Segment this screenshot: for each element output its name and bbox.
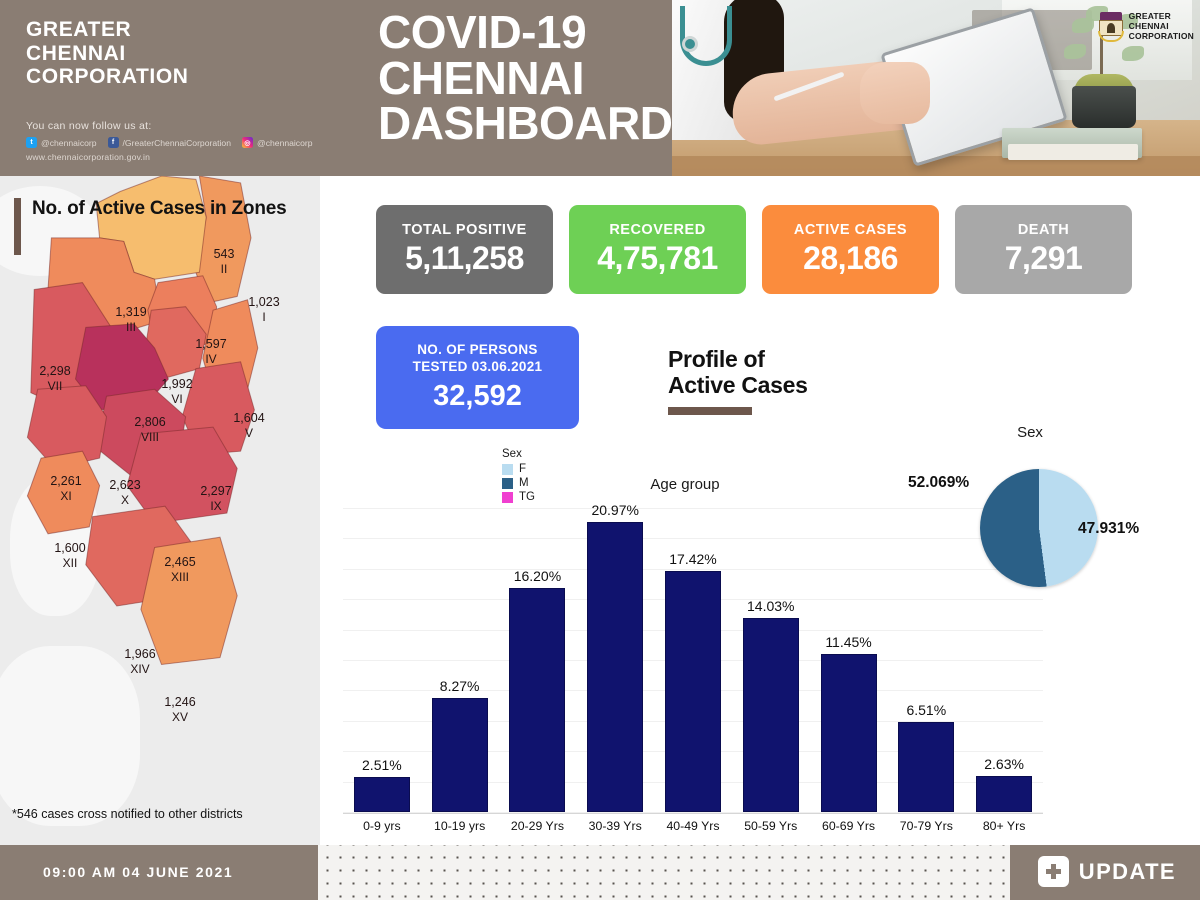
bar[interactable] — [665, 571, 721, 812]
x-tick-label: 50-59 Yrs — [732, 819, 810, 833]
bar-column[interactable]: 17.42% — [665, 508, 721, 812]
sex-legend: Sex FMTG — [502, 448, 535, 505]
zone-roman: III — [91, 320, 171, 335]
profile-title: Profile of Active Cases — [668, 346, 808, 398]
gcc-logo: GREATER CHENNAI CORPORATION — [1098, 12, 1194, 42]
legend-swatch — [502, 464, 513, 475]
social-follow-block: You can now follow us at: t @chennaicorp… — [26, 120, 320, 162]
stat-card-total-positive: TOTAL POSITIVE5,11,258 — [376, 205, 553, 294]
map-zone-label-VII: 2,298VII — [15, 363, 95, 394]
map-zone-label-XIII: 2,465XIII — [140, 554, 220, 585]
facebook-handle[interactable]: /GreaterChennaiCorporation — [123, 138, 231, 148]
x-tick-label: 10-19 yrs — [421, 819, 499, 833]
zone-roman: I — [224, 310, 304, 325]
dashboard-header: GREATER CHENNAI CORPORATION You can now … — [0, 0, 1200, 176]
bar[interactable] — [354, 777, 410, 812]
stat-card-death: DEATH7,291 — [955, 205, 1132, 294]
main-content: TOTAL POSITIVE5,11,258RECOVERED4,75,781A… — [320, 176, 1200, 845]
website-url[interactable]: www.chennaicorporation.gov.in — [26, 152, 320, 162]
pie-label-male: 52.069% — [908, 474, 969, 492]
zone-value: 2,261 — [26, 473, 106, 489]
bar-value-label: 20.97% — [587, 502, 643, 518]
zone-roman: VII — [15, 379, 95, 394]
title-line2: CHENNAI — [378, 56, 678, 102]
bar[interactable] — [821, 654, 877, 812]
profile-accent-rule — [668, 407, 752, 415]
instagram-icon[interactable]: ◎ — [242, 137, 253, 148]
zone-value: 1,597 — [171, 336, 251, 352]
tested-value: 32,592 — [433, 380, 522, 413]
photo-leaf — [1122, 46, 1144, 61]
zone-roman: XIII — [140, 570, 220, 585]
map-zone-label-XII: 1,600XII — [30, 540, 110, 571]
map-zone-label-IX: 2,297IX — [176, 483, 256, 514]
page-title: COVID-19 CHENNAI DASHBOARD — [378, 10, 678, 147]
medical-plus-icon — [1038, 856, 1069, 887]
stat-card-label: TOTAL POSITIVE — [402, 222, 527, 238]
legend-swatch — [502, 478, 513, 489]
org-name: GREATER CHENNAI CORPORATION — [26, 18, 366, 89]
pie-label-female: 47.931% — [1078, 520, 1139, 538]
map-zone-label-VIII: 2,806VIII — [110, 414, 190, 445]
zone-value: 2,297 — [176, 483, 256, 499]
stat-card-value: 5,11,258 — [405, 240, 524, 277]
legend-rows: FMTG — [502, 463, 535, 503]
zone-value: 1,966 — [100, 646, 180, 662]
zone-map-panel: No. of Active Cases in Zones 1,023I543II… — [0, 176, 320, 845]
bar[interactable] — [743, 618, 799, 812]
bar-value-label: 11.45% — [821, 634, 877, 650]
bar[interactable] — [898, 722, 954, 812]
zone-value: 1,992 — [137, 376, 217, 392]
map-title-group: No. of Active Cases in Zones — [14, 198, 286, 255]
zone-value: 1,600 — [30, 540, 110, 556]
map-zone-label-VI: 1,992VI — [137, 376, 217, 407]
map-zone-label-XV: 1,246XV — [140, 694, 220, 725]
map-footnote: *546 cases cross notified to other distr… — [12, 806, 243, 823]
x-tick-label: 70-79 Yrs — [887, 819, 965, 833]
bar-column[interactable]: 8.27% — [432, 508, 488, 812]
x-tick-label: 60-69 Yrs — [810, 819, 888, 833]
profile-title-line1: Profile of — [668, 346, 808, 372]
stat-card-label: RECOVERED — [609, 222, 705, 238]
pie-chart-title: Sex — [930, 424, 1130, 441]
legend-item-f[interactable]: F — [502, 463, 535, 475]
x-tick-label: 80+ Yrs — [965, 819, 1043, 833]
zone-value: 1,319 — [91, 304, 171, 320]
photo-book-pages — [1008, 144, 1138, 160]
bar[interactable] — [432, 698, 488, 812]
map-zone-label-XI: 2,261XI — [26, 473, 106, 504]
zone-roman: XIV — [100, 662, 180, 677]
bar-value-label: 6.51% — [898, 702, 954, 718]
bar-value-label: 14.03% — [743, 598, 799, 614]
follow-lead-text: You can now follow us at: — [26, 120, 320, 132]
zone-roman: XII — [30, 556, 110, 571]
profile-title-line2: Active Cases — [668, 372, 808, 398]
map-zone-label-III: 1,319III — [91, 304, 171, 335]
map-zone-label-I: 1,023I — [224, 294, 304, 325]
persons-tested-card: NO. OF PERSONS TESTED 03.06.2021 32,592 — [376, 326, 579, 429]
map-zone-label-XIV: 1,966XIV — [100, 646, 180, 677]
legend-swatch — [502, 492, 513, 503]
zone-roman: XV — [140, 710, 220, 725]
org-name-line2: CHENNAI — [26, 42, 366, 66]
zone-roman: XI — [26, 489, 106, 504]
zone-value: 2,465 — [140, 554, 220, 570]
zone-roman: IX — [176, 499, 256, 514]
bar-value-label: 2.63% — [976, 756, 1032, 772]
gcc-crest-icon — [1098, 12, 1124, 42]
tested-label-line1: NO. OF PERSONS — [413, 342, 543, 359]
stat-card-value: 4,75,781 — [597, 240, 718, 277]
map-title: No. of Active Cases in Zones — [32, 198, 286, 255]
org-name-line1: GREATER — [26, 18, 366, 42]
stat-card-active-cases: ACTIVE CASES28,186 — [762, 205, 939, 294]
title-line3: DASHBOARD — [378, 101, 678, 147]
stat-cards-row: TOTAL POSITIVE5,11,258RECOVERED4,75,781A… — [376, 205, 1132, 294]
facebook-icon[interactable]: f — [108, 137, 119, 148]
stat-card-label: DEATH — [1018, 222, 1069, 238]
bar-column[interactable]: 11.45% — [821, 508, 877, 812]
x-tick-label: 20-29 Yrs — [499, 819, 577, 833]
zone-map-svg — [0, 176, 320, 845]
bar[interactable] — [587, 522, 643, 812]
bar-column[interactable]: 16.20% — [509, 508, 565, 812]
twitter-handle[interactable]: @chennaicorp — [41, 138, 97, 148]
legend-label: TG — [519, 491, 535, 503]
tested-label-line2: TESTED 03.06.2021 — [413, 359, 543, 376]
bar-value-label: 2.51% — [354, 757, 410, 773]
zone-roman: V — [209, 426, 289, 441]
zone-value: 2,298 — [15, 363, 95, 379]
map-zone-label-V: 1,604V — [209, 410, 289, 441]
twitter-icon[interactable]: t — [26, 137, 37, 148]
legend-label: M — [519, 477, 529, 489]
instagram-handle[interactable]: @chennaicorp — [257, 138, 313, 148]
chart-x-tick-labels: 0-9 yrs10-19 yrs20-29 Yrs30-39 Yrs40-49 … — [343, 819, 1043, 839]
sex-pie-chart: Sex 52.069% 47.931% — [930, 424, 1200, 674]
gcc-logo-text: GREATER CHENNAI CORPORATION — [1129, 12, 1194, 41]
x-tick-label: 0-9 yrs — [343, 819, 421, 833]
social-handles-row: t @chennaicorp f /GreaterChennaiCorporat… — [26, 137, 320, 148]
map-zone-label-IV: 1,597IV — [171, 336, 251, 367]
photo-hand — [860, 62, 930, 124]
dashboard-footer: 09:00 AM 04 JUNE 2021 UPDATE — [0, 845, 1200, 900]
footer-timestamp: 09:00 AM 04 JUNE 2021 — [43, 864, 233, 880]
bar-column[interactable]: 20.97% — [587, 508, 643, 812]
zone-roman: IV — [171, 352, 251, 367]
update-button[interactable]: UPDATE — [1038, 856, 1176, 887]
org-branding: GREATER CHENNAI CORPORATION — [26, 18, 366, 89]
legend-item-m[interactable]: M — [502, 477, 535, 489]
photo-plant-pot — [1072, 86, 1136, 128]
legend-item-tg[interactable]: TG — [502, 491, 535, 503]
bar[interactable] — [509, 588, 565, 812]
bar-value-label: 8.27% — [432, 678, 488, 694]
stat-card-value: 28,186 — [803, 240, 898, 277]
update-label: UPDATE — [1079, 859, 1176, 885]
profile-heading-group: Profile of Active Cases — [668, 346, 808, 415]
footer-dot-pattern — [318, 845, 1010, 900]
stat-card-recovered: RECOVERED4,75,781 — [569, 205, 746, 294]
x-tick-label: 30-39 Yrs — [576, 819, 654, 833]
chart-x-axis — [343, 813, 1043, 814]
zone-value: 2,806 — [110, 414, 190, 430]
bar-column[interactable]: 14.03% — [743, 508, 799, 812]
logo-line3: CORPORATION — [1129, 32, 1194, 42]
bar-value-label: 17.42% — [665, 551, 721, 567]
x-tick-label: 40-49 Yrs — [654, 819, 732, 833]
stethoscope-bell-icon — [682, 36, 698, 52]
zone-roman: II — [184, 262, 264, 277]
bar-column[interactable]: 2.51% — [354, 508, 410, 812]
org-name-line3: CORPORATION — [26, 65, 366, 89]
zone-value: 1,604 — [209, 410, 289, 426]
bar-value-label: 16.20% — [509, 568, 565, 584]
zone-value: 1,023 — [224, 294, 304, 310]
zone-roman: VI — [137, 392, 217, 407]
legend-label: F — [519, 463, 526, 475]
stat-card-value: 7,291 — [1005, 240, 1083, 277]
legend-title: Sex — [502, 448, 535, 460]
bar[interactable] — [976, 776, 1032, 812]
zone-roman: VIII — [110, 430, 190, 445]
stat-card-label: ACTIVE CASES — [794, 222, 907, 238]
map-title-accent-bar — [14, 198, 21, 255]
title-line1: COVID-19 — [378, 10, 678, 56]
photo-leaf — [1064, 44, 1086, 59]
tested-label: NO. OF PERSONS TESTED 03.06.2021 — [413, 342, 543, 376]
zone-value: 1,246 — [140, 694, 220, 710]
